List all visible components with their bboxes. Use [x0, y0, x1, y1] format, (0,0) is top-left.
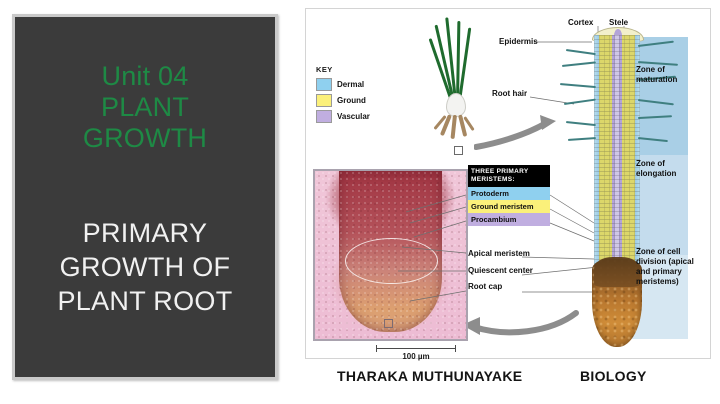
root-cell-texture: [594, 35, 640, 273]
slide-unit-line-3: GROWTH: [83, 123, 207, 154]
quiescent-center-outline: [345, 238, 438, 284]
slide-subtitle-line-1: PRIMARY: [57, 216, 232, 250]
arrow-to-root-diagram: [474, 113, 560, 151]
key-legend-item-ground: Ground: [316, 94, 370, 107]
root-tip-micrograph: [313, 169, 468, 341]
key-legend-label: Dermal: [337, 80, 364, 89]
key-legend-item-dermal: Dermal: [316, 78, 370, 91]
ground-color-swatch: [316, 94, 332, 107]
key-legend-item-vascular: Vascular: [316, 110, 370, 123]
label-zone-of-maturation: Zone of maturation: [636, 65, 702, 85]
micrograph-callout-labels: Apical meristem Quiescent center Root ca…: [468, 249, 546, 299]
key-legend-label: Vascular: [337, 112, 370, 121]
meristems-box-heading: THREE PRIMARY MERISTEMS:: [468, 165, 550, 187]
onion-root: [451, 115, 457, 139]
label-quiescent-center: Quiescent center: [468, 266, 546, 276]
slide-subtitle: PRIMARY GROWTH OF PLANT ROOT: [57, 216, 232, 318]
subject-name: BIOLOGY: [580, 368, 647, 384]
root-body: [594, 35, 640, 273]
label-stele: Stele: [609, 18, 628, 27]
label-zone-of-cell-division: Zone of cell division (apical and primar…: [636, 247, 708, 287]
onion-bulb: [446, 93, 466, 117]
vascular-color-swatch: [316, 110, 332, 123]
label-apical-meristem: Apical meristem: [468, 249, 546, 259]
magnification-box: [454, 146, 463, 155]
scale-bar: 100 µm: [368, 345, 464, 361]
scale-bar-cap-right: [455, 345, 456, 352]
title-slide: Unit 04 PLANT GROWTH PRIMARY GROWTH OF P…: [12, 14, 278, 380]
root-anatomy-figure: Key Dermal Ground Vascular: [305, 8, 711, 359]
root-hair: [568, 137, 596, 141]
key-legend-label: Ground: [337, 96, 366, 105]
meristem-label-protoderm: Protoderm: [468, 187, 550, 200]
apical-meristem-region: [594, 257, 640, 287]
meristem-label-procambium: Procambium: [468, 213, 550, 226]
scale-bar-line: [368, 345, 464, 352]
three-primary-meristems-box: THREE PRIMARY MERISTEMS: Protoderm Groun…: [468, 165, 550, 226]
label-root-cap: Root cap: [468, 282, 546, 292]
figure-footer: THARAKA MUTHUNAYAKE BIOLOGY: [305, 366, 711, 392]
author-name: THARAKA MUTHUNAYAKE: [337, 368, 522, 384]
root-hair: [560, 83, 596, 88]
slide-subtitle-line-3: PLANT ROOT: [57, 284, 232, 318]
micrograph-inset-box: [384, 319, 393, 328]
root-hair: [566, 49, 596, 55]
scale-bar-cap-left: [376, 345, 377, 352]
root-hair: [562, 61, 596, 67]
dermal-color-swatch: [316, 78, 332, 91]
meristem-label-ground-meristem: Ground meristem: [468, 200, 550, 213]
screenshot-root: Unit 04 PLANT GROWTH PRIMARY GROWTH OF P…: [0, 0, 720, 404]
root-hair: [564, 99, 596, 105]
label-root-hair: Root hair: [492, 89, 527, 98]
slide-subtitle-line-2: GROWTH OF: [57, 250, 232, 284]
label-epidermis: Epidermis: [499, 37, 538, 46]
label-cortex: Cortex: [568, 18, 593, 27]
root-hair: [566, 121, 596, 126]
slide-unit-line-2: PLANT: [83, 92, 207, 123]
key-legend-title: Key: [316, 65, 370, 74]
root-cap: [592, 259, 642, 347]
label-zone-of-elongation: Zone of elongation: [636, 159, 702, 179]
slide-unit-title: Unit 04 PLANT GROWTH: [83, 61, 207, 154]
scale-bar-label: 100 µm: [368, 352, 464, 361]
slide-unit-line-1: Unit 04: [83, 61, 207, 92]
key-legend: Key Dermal Ground Vascular: [316, 65, 370, 126]
